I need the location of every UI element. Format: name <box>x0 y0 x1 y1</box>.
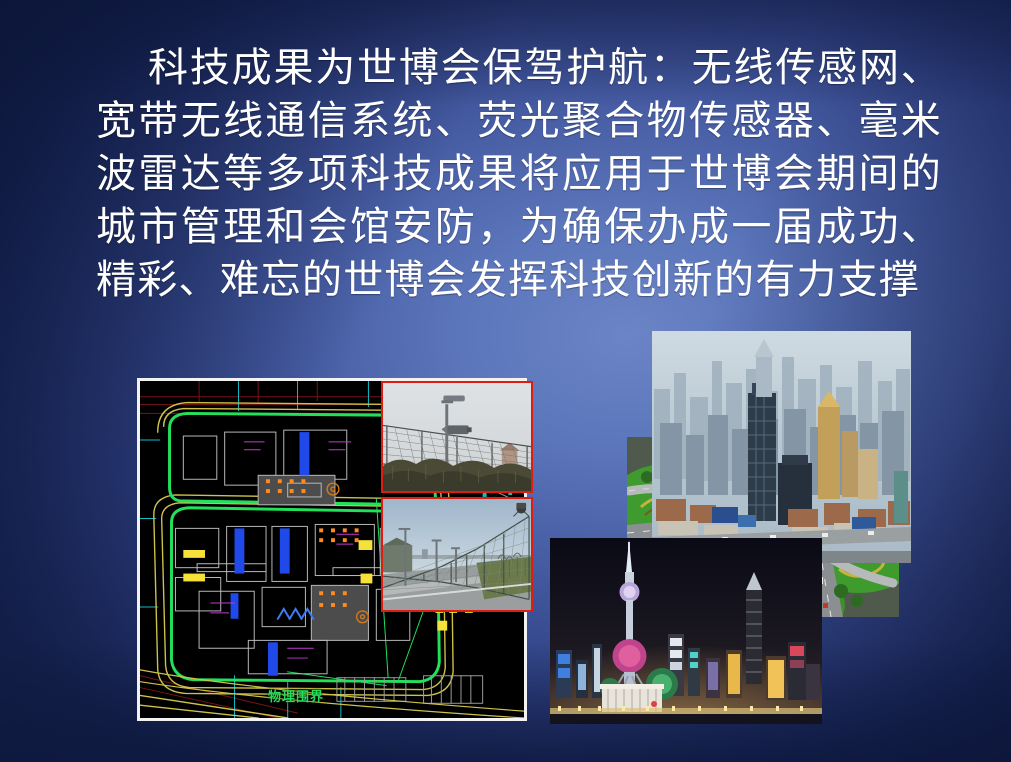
camera-photo-graphic <box>383 383 531 491</box>
slide-body-text: 科技成果为世博会保驾护航：无线传感网、宽带无线通信系统、荧光聚合物传感器、毫米波… <box>96 42 942 307</box>
shanghai-night-skyline-photo <box>550 538 822 724</box>
skyline-graphic <box>652 331 911 563</box>
perimeter-fence-roadside-photo <box>381 497 533 612</box>
fence-photo-graphic <box>383 499 531 610</box>
cad-perimeter-label: 物理围界 <box>268 686 324 705</box>
surveillance-camera-on-fence-photo <box>381 381 533 493</box>
presentation-slide: 物理围界 <box>0 0 1011 762</box>
city-skyline-daytime-photo <box>652 331 911 563</box>
night-skyline-graphic <box>550 538 822 724</box>
